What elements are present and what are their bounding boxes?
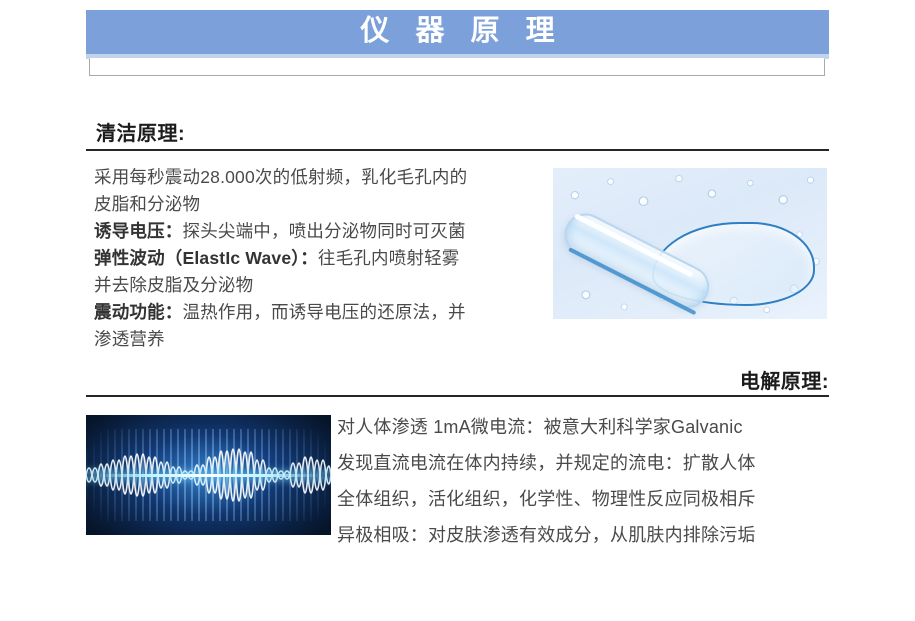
glass-spatula-photo — [553, 168, 827, 319]
banner-shadow-frame — [89, 59, 825, 76]
page-title: 仪 器 原 理 — [351, 17, 563, 48]
cleaning-line-5: 并去除皮脂及分泌物 — [94, 272, 546, 299]
page-banner: 仪 器 原 理 — [86, 10, 829, 59]
electrolysis-section-divider — [86, 395, 829, 397]
electrolysis-line-1: 对人体渗透 1mA微电流：被意大利科学家Galvanic — [337, 409, 837, 445]
banner-bar: 仪 器 原 理 — [86, 10, 829, 54]
cleaning-section-heading: 清洁原理: — [96, 117, 185, 146]
electrolysis-section-body: 对人体渗透 1mA微电流：被意大利科学家Galvanic 发现直流电流在体内持续… — [337, 409, 837, 553]
electrolysis-line-3: 全体组织，活化组织，化学性、物理性反应同极相斥 — [337, 481, 837, 517]
electrolysis-line-2: 发现直流电流在体内持续，并规定的流电：扩散人体 — [337, 445, 837, 481]
electrolysis-section-heading: 电解原理: — [740, 365, 829, 394]
waveform-center-line — [86, 474, 331, 477]
cleaning-line-7: 渗透营养 — [94, 326, 546, 353]
waveform-photo — [86, 415, 331, 535]
cleaning-section-body: 采用每秒震动28.000次的低射频，乳化毛孔内的 皮脂和分泌物 诱导电压：探头尖… — [94, 164, 546, 353]
cleaning-line-3: 诱导电压：探头尖端中，喷出分泌物同时可灭菌 — [94, 218, 546, 245]
cleaning-line-4: 弹性波动（ElastIc Wave）：往毛孔内喷射轻雾 — [94, 245, 546, 272]
cleaning-line-6: 震动功能：温热作用，而诱导电压的还原法，并 — [94, 299, 546, 326]
electrolysis-line-4: 异极相吸：对皮肤渗透有效成分，从肌肤内排除污垢 — [337, 517, 837, 553]
cleaning-section-divider — [86, 149, 829, 151]
cleaning-line-2: 皮脂和分泌物 — [94, 191, 546, 218]
cleaning-line-1: 采用每秒震动28.000次的低射频，乳化毛孔内的 — [94, 164, 546, 191]
banner-frame-mask — [90, 58, 824, 61]
